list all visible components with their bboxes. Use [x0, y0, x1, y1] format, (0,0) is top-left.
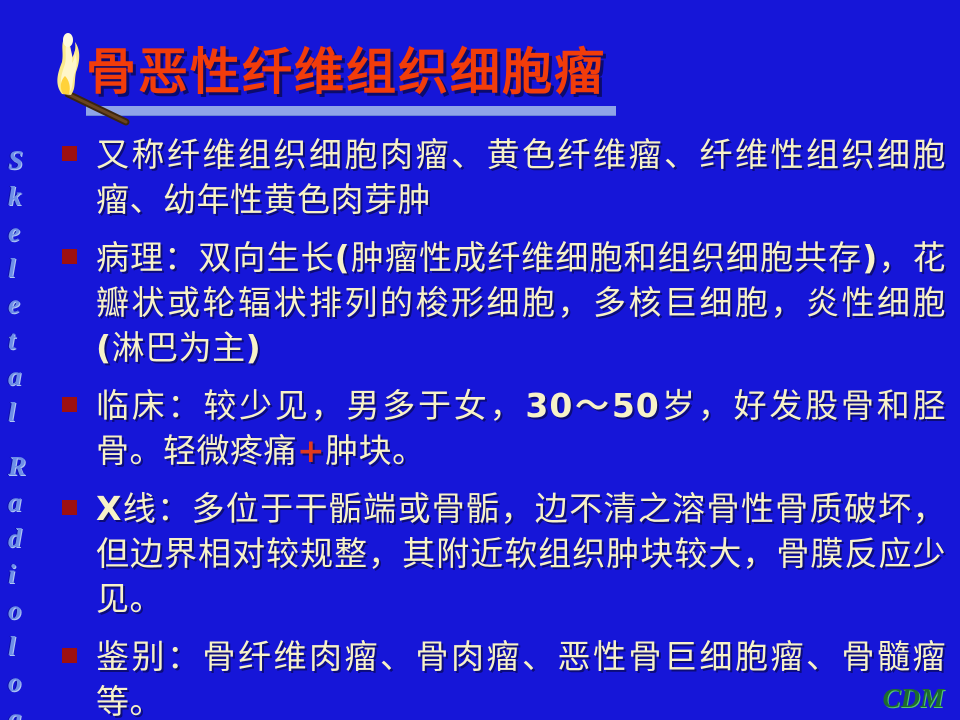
- title-underline-rule: [86, 106, 616, 115]
- body-text: 肿瘤性成纤维细胞和组织细胞共存: [350, 238, 862, 277]
- torch-flame-icon: [38, 32, 158, 132]
- bullet-item-clinical: 临床：较少见，男多于女，30～50岁，好发股骨和胫骨。轻微疼痛+肿块。: [62, 383, 946, 473]
- title-block: 骨恶性纤维组织细胞瘤: [86, 44, 946, 100]
- body-text: 鉴别：骨纤维肉瘤、骨肉瘤、恶性骨巨细胞瘤、骨髓瘤等。: [96, 637, 946, 720]
- bullet-item-pathology: 病理：双向生长(肿瘤性成纤维细胞和组织细胞共存)，花瓣状或轮辐状排列的梭形细胞，…: [62, 235, 946, 370]
- emphasis-text: ): [862, 238, 878, 277]
- bullet-text-alias: 又称纤维组织细胞肉瘤、黄色纤维瘤、纤维性组织细胞瘤、幼年性黄色肉芽肿: [96, 132, 946, 222]
- bullet-marker-square: [62, 648, 77, 663]
- body-text: 肿块。: [325, 431, 426, 470]
- body-text: 病理：双向生长: [96, 238, 335, 277]
- side-watermark-char: l: [8, 250, 16, 286]
- bullet-item-alias: 又称纤维组织细胞肉瘤、黄色纤维瘤、纤维性组织细胞瘤、幼年性黄色肉芽肿: [62, 132, 946, 222]
- side-watermark-char: t: [8, 322, 16, 358]
- bullet-list: 又称纤维组织细胞肉瘤、黄色纤维瘤、纤维性组织细胞瘤、幼年性黄色肉芽肿病理：双向生…: [62, 132, 946, 720]
- side-watermark-char: o: [8, 664, 22, 700]
- side-watermark-char: e: [8, 214, 20, 250]
- side-watermark-char: a: [8, 484, 22, 520]
- bullet-marker-square: [62, 397, 77, 412]
- side-watermark-char: k: [8, 178, 22, 214]
- emphasis-text: (: [96, 328, 112, 367]
- side-watermark-char: S: [8, 142, 23, 178]
- bullet-text-pathology: 病理：双向生长(肿瘤性成纤维细胞和组织细胞共存)，花瓣状或轮辐状排列的梭形细胞，…: [96, 235, 946, 370]
- side-watermark-char: l: [8, 394, 16, 430]
- bullet-marker-square: [62, 249, 77, 264]
- side-watermark-char: a: [8, 358, 22, 394]
- side-watermark-char: i: [8, 556, 16, 592]
- side-watermark-char: o: [8, 592, 22, 628]
- emphasis-text: ): [246, 328, 262, 367]
- side-watermark-skeletal-radiology: SkeletalRadiology: [2, 142, 48, 720]
- bullet-item-differential: 鉴别：骨纤维肉瘤、骨肉瘤、恶性骨巨细胞瘤、骨髓瘤等。: [62, 634, 946, 720]
- bullet-text-clinical: 临床：较少见，男多于女，30～50岁，好发股骨和胫骨。轻微疼痛+肿块。: [96, 383, 946, 473]
- body-text: 线：多位于干骺端或骨骺，边不清之溶骨性骨质破坏，但边界相对较规整，其附近软组织肿…: [96, 489, 946, 618]
- side-watermark-char: R: [8, 448, 26, 484]
- body-text: 临床：较少见，男多于女，: [96, 386, 525, 425]
- bullet-item-xray: X线：多位于干骺端或骨骺，边不清之溶骨性骨质破坏，但边界相对较规整，其附近软组织…: [62, 486, 946, 621]
- bullet-marker-square: [62, 500, 77, 515]
- age-range-value: 30～50: [525, 386, 659, 425]
- bullet-marker-square: [62, 146, 77, 161]
- body-text: 又称纤维组织细胞肉瘤、黄色纤维瘤、纤维性组织细胞瘤、幼年性黄色肉芽肿: [96, 135, 946, 219]
- side-watermark-char: e: [8, 286, 20, 322]
- accent-plus-sign: +: [297, 431, 325, 470]
- side-watermark-char: l: [8, 628, 16, 664]
- emphasis-text: (: [335, 238, 351, 277]
- bullet-text-differential: 鉴别：骨纤维肉瘤、骨肉瘤、恶性骨巨细胞瘤、骨髓瘤等。: [96, 634, 946, 720]
- bullet-text-xray: X线：多位于干骺端或骨骺，边不清之溶骨性骨质破坏，但边界相对较规整，其附近软组织…: [96, 486, 946, 621]
- side-watermark-char: d: [8, 520, 22, 556]
- emphasis-text: X: [96, 489, 122, 528]
- page-title: 骨恶性纤维组织细胞瘤: [86, 44, 946, 100]
- author-signature: CDM: [882, 683, 944, 714]
- presentation-slide: SkeletalRadiology 骨恶性纤维组织细胞瘤 又称纤维组织细胞肉瘤、…: [0, 0, 960, 720]
- body-text: 淋巴为主: [112, 328, 246, 367]
- side-watermark-char: g: [8, 700, 22, 720]
